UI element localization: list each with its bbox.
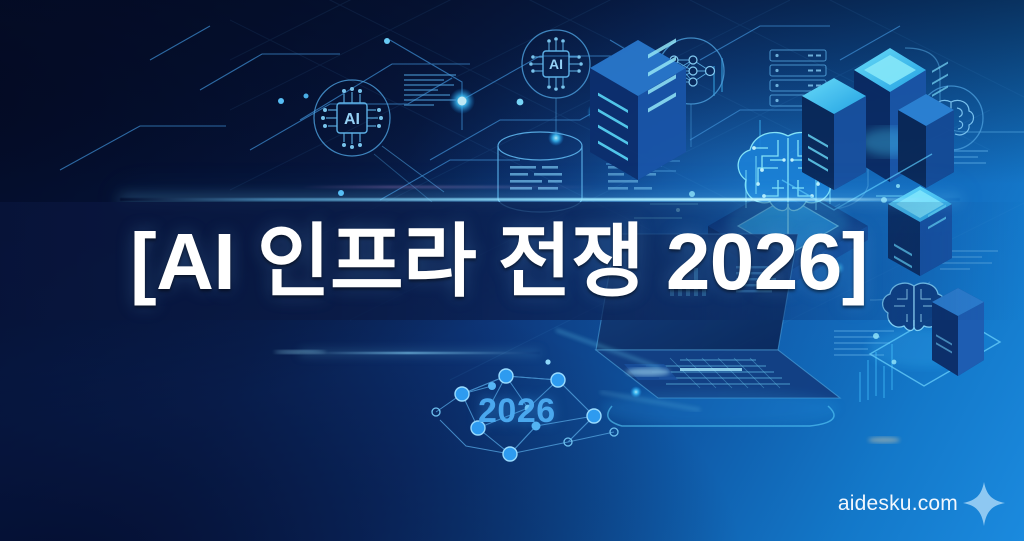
accent-beam-secondary [300,186,600,188]
watermark-text: aidesku.com [838,492,958,516]
year-label: 2026 [478,392,556,431]
ai-chip-icon-left: AI [314,80,444,202]
accent-beam-lower [300,352,540,354]
svg-text:AI: AI [344,111,360,128]
svg-text:AI: AI [549,56,563,72]
server-rack-center [590,38,686,180]
sparkle-icon [962,481,1006,527]
watermark: aidesku.com [838,481,1006,527]
ai-chip-icon-mid: AI [522,30,590,146]
hero-banner: AI AI [0,0,1024,541]
page-title: [AI 인프라 전쟁 2026] [130,214,868,310]
accent-beam-primary [120,198,960,201]
